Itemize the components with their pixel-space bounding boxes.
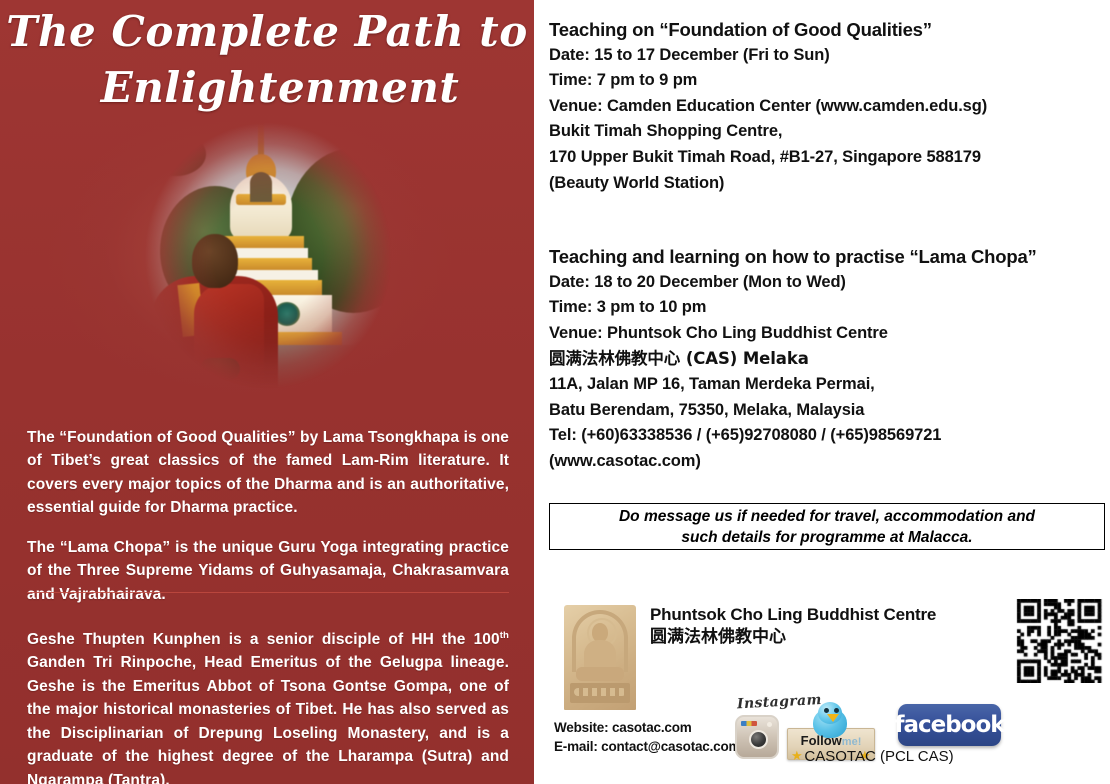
event-block-foundation: Teaching on “Foundation of Good Qualitie… <box>549 17 1105 196</box>
event-2-venue: Venue: Phuntsok Cho Ling Buddhist Centre <box>549 321 1105 347</box>
buddha-statue-image <box>564 605 636 710</box>
paragraph-geshe-biography: Geshe Thupten Kunphen is a senior discip… <box>27 624 509 784</box>
event-2-address-line-1: 11A, Jalan MP 16, Taman Merdeka Permai, <box>549 372 1105 398</box>
travel-note-line-2: such details for programme at Malacca. <box>619 527 1035 548</box>
twitter-bird-eye-left <box>824 708 829 713</box>
event-2-heading: Teaching and learning on how to practise… <box>549 244 1105 270</box>
twitter-bird-beak <box>827 714 839 722</box>
event-2-date: Date: 18 to 20 December (Mon to Wed) <box>549 270 1105 296</box>
event-1-time: Time: 7 pm to 9 pm <box>549 68 1105 94</box>
statue-plinth-pattern <box>574 688 626 696</box>
twitter-me-text: me! <box>842 736 862 748</box>
event-block-lama-chopa: Teaching and learning on how to practise… <box>549 244 1105 474</box>
travel-note-box: Do message us if needed for travel, acco… <box>549 503 1105 550</box>
event-2-website: (www.casotac.com) <box>549 449 1105 475</box>
event-1-heading: Teaching on “Foundation of Good Qualitie… <box>549 17 1105 43</box>
centre-name: Phuntsok Cho Ling Buddhist Centre 圆满法林佛教… <box>650 604 980 649</box>
statue-lap <box>576 667 624 681</box>
event-1-address-line-3: (Beauty World Station) <box>549 171 1105 197</box>
bio-text-pre: Geshe Thupten Kunphen is a senior discip… <box>27 631 500 648</box>
instagram-stripe <box>741 721 757 726</box>
travel-note-text: Do message us if needed for travel, acco… <box>619 506 1035 548</box>
event-1-address-line-2: 170 Upper Bukit Timah Road, #B1-27, Sing… <box>549 145 1105 171</box>
monk-head <box>192 234 238 288</box>
poster-title-line-1: The Complete Path to <box>0 4 534 60</box>
left-red-panel: The Complete Path to Enlightenment <box>0 0 534 784</box>
qr-code[interactable] <box>1013 599 1105 683</box>
twitter-follow-me-text: Followme! <box>787 733 875 748</box>
event-1-address-line-1: Bukit Timah Shopping Centre, <box>549 119 1105 145</box>
social-handle-caption: CASOTAC (PCL CAS) <box>764 748 994 765</box>
event-1-venue: Venue: Camden Education Center (www.camd… <box>549 94 1105 120</box>
qr-code-canvas <box>1013 599 1105 683</box>
twitter-bird-eye-right <box>834 708 839 713</box>
twitter-follow-text: Follow <box>801 733 842 748</box>
travel-note-line-1: Do message us if needed for travel, acco… <box>619 506 1035 527</box>
right-info-column: Teaching on “Foundation of Good Qualitie… <box>534 0 1110 784</box>
centre-name-chinese: 圆满法林佛教中心 <box>650 626 980 649</box>
stupa-niche <box>250 172 272 202</box>
facebook-icon[interactable]: facebook <box>898 704 1001 746</box>
paragraph-foundation-of-good-qualities: The “Foundation of Good Qualities” by La… <box>27 426 509 520</box>
bio-ordinal-suffix: th <box>500 630 509 641</box>
paragraph-divider <box>27 592 509 593</box>
monk-hands <box>200 358 240 380</box>
centre-name-english: Phuntsok Cho Ling Buddhist Centre <box>650 604 980 626</box>
instagram-flash <box>767 722 772 727</box>
statue-torso <box>584 640 616 670</box>
poster-root: The Complete Path to Enlightenment <box>0 0 1110 784</box>
poster-title: The Complete Path to Enlightenment <box>0 4 534 116</box>
event-1-date: Date: 15 to 17 December (Fri to Sun) <box>549 43 1105 69</box>
paragraph-lama-chopa: The “Lama Chopa” is the unique Guru Yoga… <box>27 536 509 607</box>
event-2-telephone: Tel: (+60)63338536 / (+65)92708080 / (+6… <box>549 423 1105 449</box>
event-2-address-line-2: Batu Berendam, 75350, Melaka, Malaysia <box>549 398 1105 424</box>
event-2-venue-chinese: 圆满法林佛教中心 (CAS) Melaka <box>549 346 1105 372</box>
instagram-lens <box>749 730 768 749</box>
facebook-wordmark: facebook <box>898 704 1001 746</box>
photo-tree-top <box>146 132 206 176</box>
bio-text-post: Ganden Tri Rinpoche, Head Emeritus of th… <box>27 654 509 784</box>
event-2-time: Time: 3 pm to 10 pm <box>549 295 1105 321</box>
monk-and-stupa-photo <box>118 108 418 403</box>
